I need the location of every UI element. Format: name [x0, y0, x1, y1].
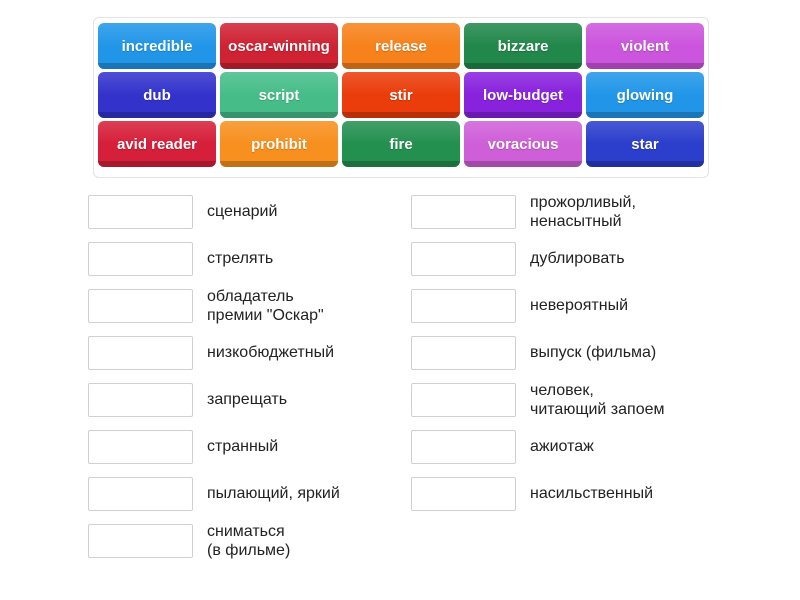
answer-drop-box[interactable] — [411, 289, 516, 323]
word-tile[interactable]: avid reader — [98, 121, 216, 167]
word-tile-label: stir — [386, 88, 415, 103]
answer-row: ажиотаж — [411, 423, 741, 470]
word-tile[interactable]: dub — [98, 72, 216, 118]
answer-row: человек, читающий запоем — [411, 376, 741, 423]
answer-drop-box[interactable] — [88, 477, 193, 511]
word-tile-label: fire — [386, 137, 415, 152]
answer-drop-box[interactable] — [411, 242, 516, 276]
word-tile[interactable]: low-budget — [464, 72, 582, 118]
answer-row: сниматься (в фильме) — [88, 517, 398, 564]
word-tile[interactable]: bizzare — [464, 23, 582, 69]
answer-translation-text: выпуск (фильма) — [530, 343, 656, 362]
answer-translation-text: человек, читающий запоем — [530, 381, 665, 419]
answer-row: дублировать — [411, 235, 741, 282]
answer-drop-box[interactable] — [88, 195, 193, 229]
answer-translation-text: дублировать — [530, 249, 625, 268]
answer-translation-text: пылающий, яркий — [207, 484, 340, 503]
word-tile-label: bizzare — [495, 39, 552, 54]
answer-translation-text: ажиотаж — [530, 437, 594, 456]
word-tile-label: low-budget — [480, 88, 566, 103]
answer-column-right: прожорливый, ненасытныйдублироватьневеро… — [411, 188, 741, 517]
answer-translation-text: стрелять — [207, 249, 273, 268]
tile-row: avid readerprohibitfirevoraciousstar — [98, 121, 704, 167]
answer-row: обладатель премии "Оскар" — [88, 282, 398, 329]
answer-row: запрещать — [88, 376, 398, 423]
answer-translation-text: низкобюджетный — [207, 343, 334, 362]
word-tile-label: oscar-winning — [225, 39, 333, 54]
answer-translation-text: странный — [207, 437, 278, 456]
answer-column-left: сценарийстрелятьобладатель премии "Оскар… — [88, 188, 398, 564]
answer-row: странный — [88, 423, 398, 470]
answer-drop-box[interactable] — [88, 383, 193, 417]
word-tile-label: prohibit — [248, 137, 310, 152]
word-tile[interactable]: glowing — [586, 72, 704, 118]
answer-drop-box[interactable] — [411, 430, 516, 464]
word-tile[interactable]: oscar-winning — [220, 23, 338, 69]
answer-translation-text: невероятный — [530, 296, 628, 315]
word-tile-label: avid reader — [114, 137, 200, 152]
answer-row: низкобюджетный — [88, 329, 398, 376]
word-tile[interactable]: release — [342, 23, 460, 69]
answer-drop-box[interactable] — [88, 336, 193, 370]
answer-translation-text: прожорливый, ненасытный — [530, 193, 636, 231]
answer-drop-box[interactable] — [88, 430, 193, 464]
answer-drop-box[interactable] — [88, 242, 193, 276]
answer-drop-box[interactable] — [88, 524, 193, 558]
word-tile-bank: incredibleoscar-winningreleasebizzarevio… — [93, 17, 709, 178]
answer-row: сценарий — [88, 188, 398, 235]
answer-drop-box[interactable] — [411, 195, 516, 229]
tile-row: dubscriptstirlow-budgetglowing — [98, 72, 704, 118]
answer-translation-text: обладатель премии "Оскар" — [207, 287, 324, 325]
answer-row: выпуск (фильма) — [411, 329, 741, 376]
answer-row: стрелять — [88, 235, 398, 282]
answer-row: прожорливый, ненасытный — [411, 188, 741, 235]
word-tile[interactable]: violent — [586, 23, 704, 69]
tile-row: incredibleoscar-winningreleasebizzarevio… — [98, 23, 704, 69]
answer-row: пылающий, яркий — [88, 470, 398, 517]
answer-row: невероятный — [411, 282, 741, 329]
answer-drop-box[interactable] — [411, 477, 516, 511]
word-tile-label: script — [256, 88, 303, 103]
word-tile[interactable]: prohibit — [220, 121, 338, 167]
answer-drop-box[interactable] — [411, 336, 516, 370]
answer-translation-text: сниматься (в фильме) — [207, 522, 290, 560]
word-tile[interactable]: star — [586, 121, 704, 167]
answer-drop-box[interactable] — [88, 289, 193, 323]
word-tile[interactable]: stir — [342, 72, 460, 118]
answer-row: насильственный — [411, 470, 741, 517]
word-tile[interactable]: voracious — [464, 121, 582, 167]
word-tile-label: incredible — [119, 39, 196, 54]
word-tile-label: voracious — [485, 137, 562, 152]
answer-translation-text: сценарий — [207, 202, 277, 221]
answer-drop-box[interactable] — [411, 383, 516, 417]
word-tile-label: release — [372, 39, 430, 54]
word-tile-label: violent — [618, 39, 672, 54]
word-tile-label: star — [628, 137, 662, 152]
word-tile[interactable]: incredible — [98, 23, 216, 69]
word-tile-label: glowing — [614, 88, 677, 103]
answer-translation-text: насильственный — [530, 484, 653, 503]
word-tile-label: dub — [140, 88, 174, 103]
word-tile[interactable]: fire — [342, 121, 460, 167]
word-tile[interactable]: script — [220, 72, 338, 118]
answer-translation-text: запрещать — [207, 390, 287, 409]
